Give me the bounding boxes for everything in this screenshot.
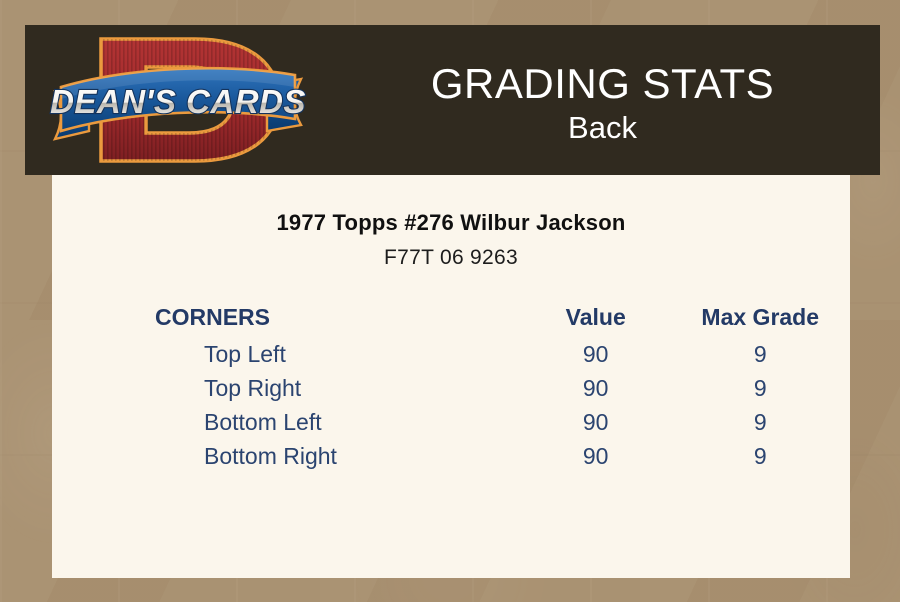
card-title: 1977 Topps #276 Wilbur Jackson <box>52 210 850 236</box>
deans-cards-logo[interactable]: DEAN'S CARDS <box>43 27 313 173</box>
logo-wordmark: DEAN'S CARDS <box>50 83 306 120</box>
table-header-row: CORNERS Value Max Grade <box>52 304 850 337</box>
page-title: GRADING STATS <box>431 60 774 108</box>
content-panel: 1977 Topps #276 Wilbur Jackson F77T 06 9… <box>52 175 850 578</box>
row-value: 90 <box>521 405 671 439</box>
row-label: Top Left <box>52 337 521 371</box>
header-bar: DEAN'S CARDS GRADING STATS Back <box>25 25 880 175</box>
table-row: Top Right 90 9 <box>52 371 850 405</box>
table-row: Top Left 90 9 <box>52 337 850 371</box>
grading-stats-table: CORNERS Value Max Grade Top Left 90 9 To… <box>52 304 850 473</box>
row-label: Top Right <box>52 371 521 405</box>
row-value: 90 <box>521 337 671 371</box>
row-label: Bottom Left <box>52 405 521 439</box>
row-max-grade: 9 <box>670 439 850 473</box>
column-header-value: Value <box>521 304 671 337</box>
row-label: Bottom Right <box>52 439 521 473</box>
page-subtitle: Back <box>568 108 637 148</box>
row-max-grade: 9 <box>670 405 850 439</box>
row-value: 90 <box>521 439 671 473</box>
grading-stats-page: DEAN'S CARDS GRADING STATS Back 1977 Top… <box>0 0 900 602</box>
table-row: Bottom Left 90 9 <box>52 405 850 439</box>
column-header-corners: CORNERS <box>52 304 521 337</box>
table-row: Bottom Right 90 9 <box>52 439 850 473</box>
header-title-block: GRADING STATS Back <box>325 25 880 175</box>
column-header-max-grade: Max Grade <box>670 304 850 337</box>
row-value: 90 <box>521 371 671 405</box>
row-max-grade: 9 <box>670 371 850 405</box>
row-max-grade: 9 <box>670 337 850 371</box>
card-serial-number: F77T 06 9263 <box>52 246 850 270</box>
